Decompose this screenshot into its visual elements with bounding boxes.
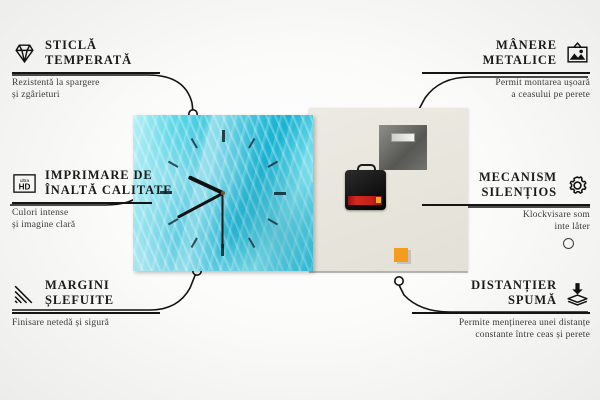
- callout-subtitle: Culori intenseși imagine clară: [12, 207, 180, 231]
- picture-hanger-icon: [565, 41, 590, 66]
- callout-rule: [12, 312, 160, 314]
- infographic-canvas: STICLĂTEMPERATĂ Rezistentă la spargereși…: [0, 0, 600, 400]
- clock-tick: [248, 138, 255, 149]
- diamond-icon: [12, 41, 37, 66]
- callout-distantier-spuma: DISTANȚIERSPUMĂ Permite menținerea unei …: [410, 278, 590, 341]
- callout-title: MARGINIȘLEFUITE: [45, 278, 114, 308]
- hanger-slot: [391, 133, 415, 142]
- callout-rule: [12, 202, 152, 204]
- callout-rule: [422, 204, 590, 206]
- clock-tick: [274, 192, 286, 195]
- callout-title: MECANISMSILENȚIOS: [479, 170, 557, 200]
- clock-pivot: [221, 191, 225, 195]
- product-photo: [133, 108, 468, 271]
- polished-edge-icon: [12, 281, 37, 306]
- callout-imprimare-inalta-calitate: ultra HD IMPRIMARE DEÎNALTĂ CALITATE Cul…: [12, 168, 180, 231]
- callout-mecanism-silentios: MECANISMSILENȚIOS Klockvisare sominte lå…: [420, 170, 590, 233]
- gear-icon: [565, 173, 590, 198]
- callout-subtitle: Klockvisare sominte låter: [420, 209, 590, 233]
- callout-title: DISTANȚIERSPUMĂ: [471, 278, 557, 308]
- clock-tick: [222, 130, 225, 142]
- callout-subtitle: Permite menținerea unei distanțeconstant…: [410, 317, 590, 341]
- callout-rule: [412, 312, 590, 314]
- hd-label: HD: [19, 182, 31, 191]
- ultra-hd-icon: ultra HD: [12, 171, 37, 196]
- callout-title: MÂNEREMETALICE: [483, 38, 557, 68]
- clock-tick: [168, 161, 179, 168]
- foam-spacer: [394, 248, 408, 262]
- callout-subtitle: Finisare netedă și sigură: [12, 317, 172, 329]
- callout-sticla-temperata: STICLĂTEMPERATĂ Rezistentă la spargereși…: [12, 38, 172, 101]
- clock-tick: [191, 138, 198, 149]
- foam-spacer-icon: [565, 281, 590, 306]
- callout-subtitle: Rezistentă la spargereși zgârieturi: [12, 77, 172, 101]
- clock-tick: [191, 238, 198, 249]
- clock-tick: [248, 238, 255, 249]
- callout-subtitle: Permit montarea ușoarăa ceasului pe pere…: [420, 77, 590, 101]
- metal-hanger-plate: [379, 125, 427, 170]
- mechanism-dial: [563, 238, 574, 249]
- callout-margini-slefuite: MARGINIȘLEFUITE Finisare netedă și sigur…: [12, 278, 172, 329]
- battery: [348, 196, 382, 205]
- callout-rule: [422, 72, 590, 74]
- callout-manere-metalice: MÂNEREMETALICE Permit montarea ușoarăa c…: [420, 38, 590, 101]
- clock-tick: [268, 161, 279, 168]
- clock-tick: [268, 218, 279, 225]
- callout-rule: [12, 72, 160, 74]
- callout-title: IMPRIMARE DEÎNALTĂ CALITATE: [45, 168, 173, 198]
- callout-title: STICLĂTEMPERATĂ: [45, 38, 132, 68]
